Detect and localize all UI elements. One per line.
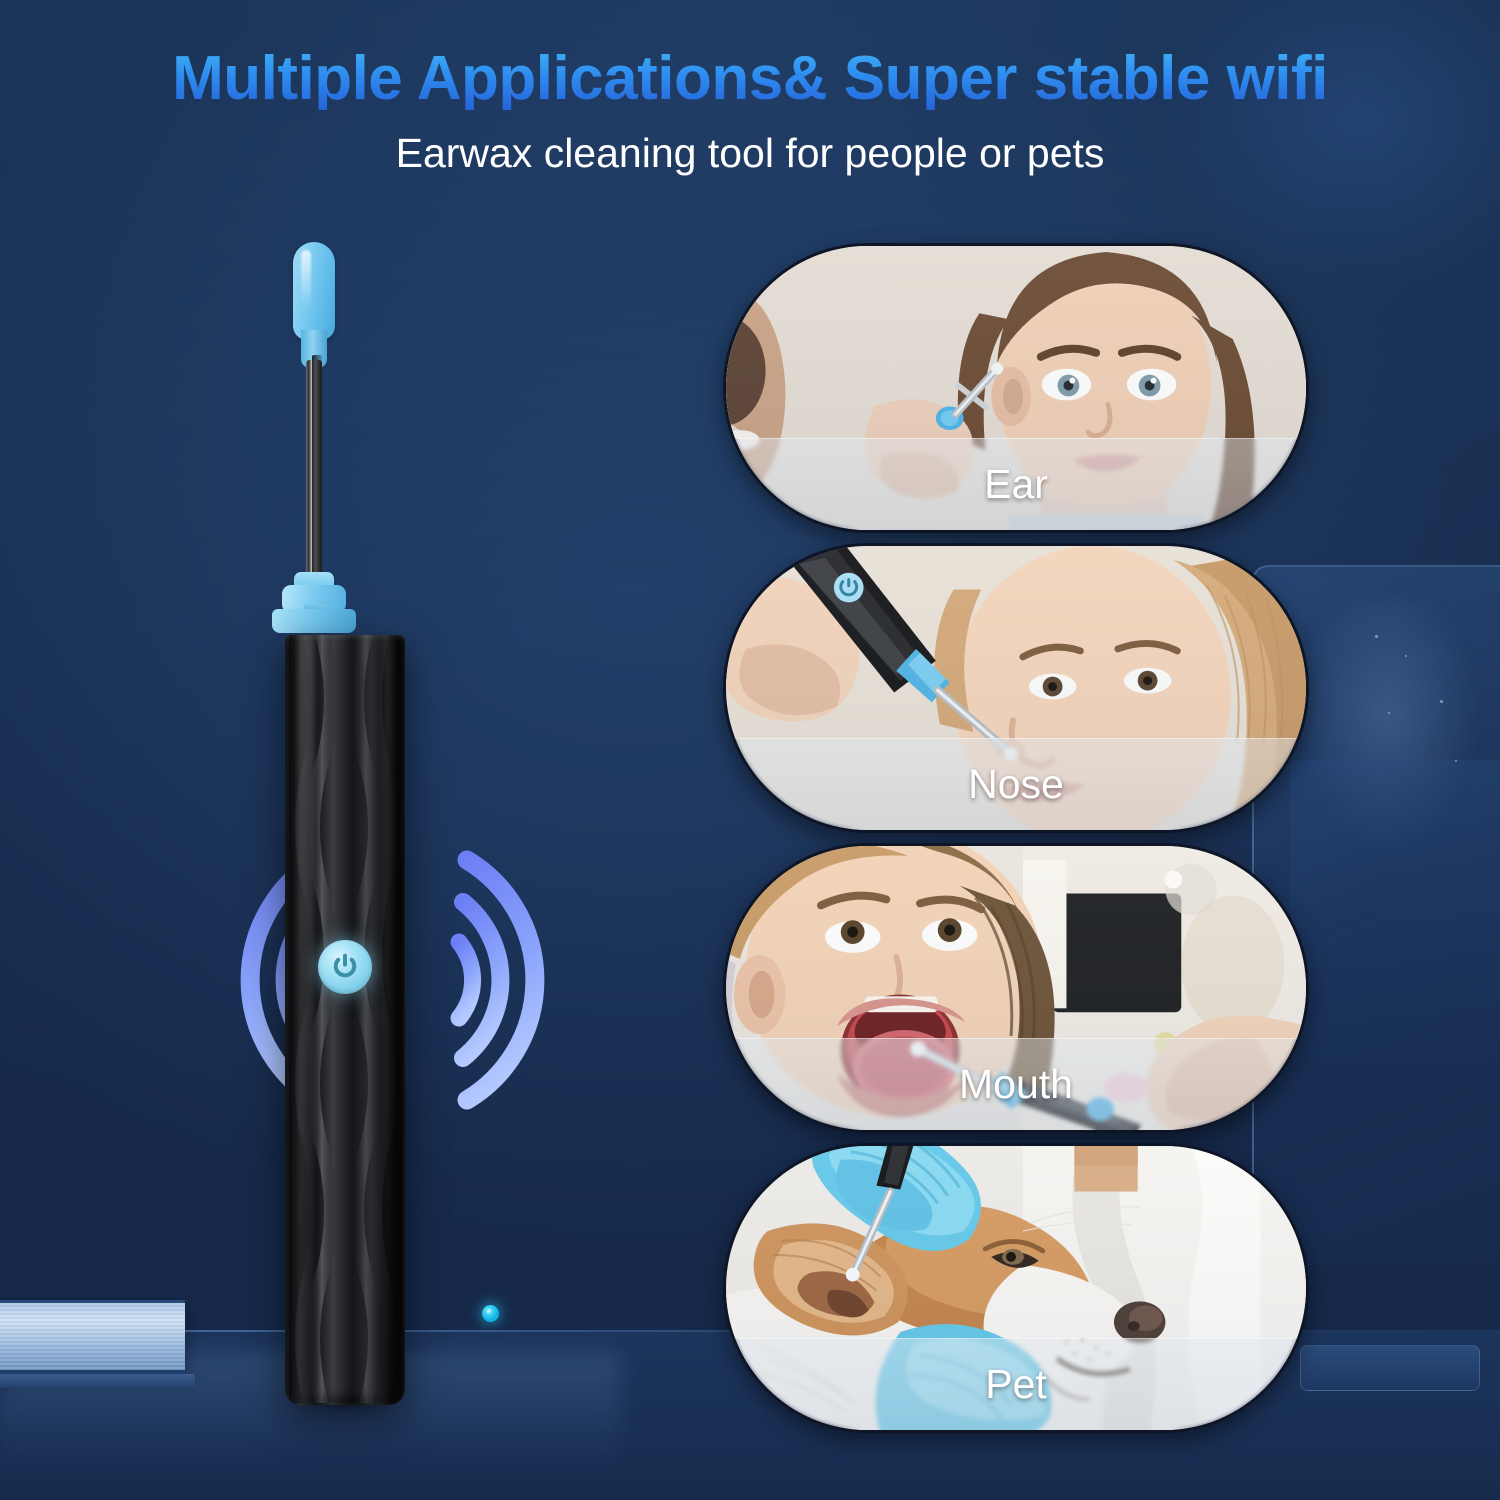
led-indicator (482, 1305, 499, 1322)
device-base-shadow (278, 1390, 413, 1416)
body-highlight-right (383, 635, 393, 1405)
wifi-waves-right (445, 830, 635, 1130)
card-label-text: Nose (968, 764, 1064, 805)
device-illustration (150, 230, 600, 1410)
card-label-text: Mouth (959, 1064, 1073, 1105)
page-title: Multiple Applications& Super stable wifi (0, 48, 1500, 110)
background-sparkle-dot (1375, 635, 1378, 638)
card-label-band: Mouth (726, 1038, 1306, 1130)
application-card-mouth[interactable]: Mouth (723, 843, 1309, 1133)
body-highlight-left (299, 635, 315, 1405)
background-panel-right (1290, 760, 1500, 1060)
card-label-band: Ear (726, 438, 1306, 530)
application-card-nose[interactable]: Nose (723, 543, 1309, 833)
silicone-tip (293, 242, 335, 340)
background-sparkle-dot (1440, 700, 1443, 703)
application-card-pet[interactable]: Pet (723, 1143, 1309, 1433)
device-body (285, 635, 405, 1405)
background-sparkle-dot (1405, 655, 1407, 657)
background-mouse-pad (1300, 1345, 1480, 1391)
card-label-band: Nose (726, 738, 1306, 830)
application-cards-list: Ear (723, 243, 1309, 1443)
blue-collar (268, 572, 360, 644)
card-label-band: Pet (726, 1338, 1306, 1430)
background-sparkle-dot (1455, 760, 1457, 762)
application-card-ear[interactable]: Ear (723, 243, 1309, 533)
product-feature-banner: Multiple Applications& Super stable wifi… (0, 0, 1500, 1500)
power-button[interactable] (318, 940, 372, 994)
power-icon (330, 952, 360, 982)
page-subtitle: Earwax cleaning tool for people or pets (0, 133, 1500, 174)
collar-tier-base (272, 609, 356, 633)
card-label-text: Ear (984, 464, 1048, 505)
background-sparkle-dot (1388, 712, 1390, 714)
card-label-text: Pet (985, 1364, 1047, 1405)
